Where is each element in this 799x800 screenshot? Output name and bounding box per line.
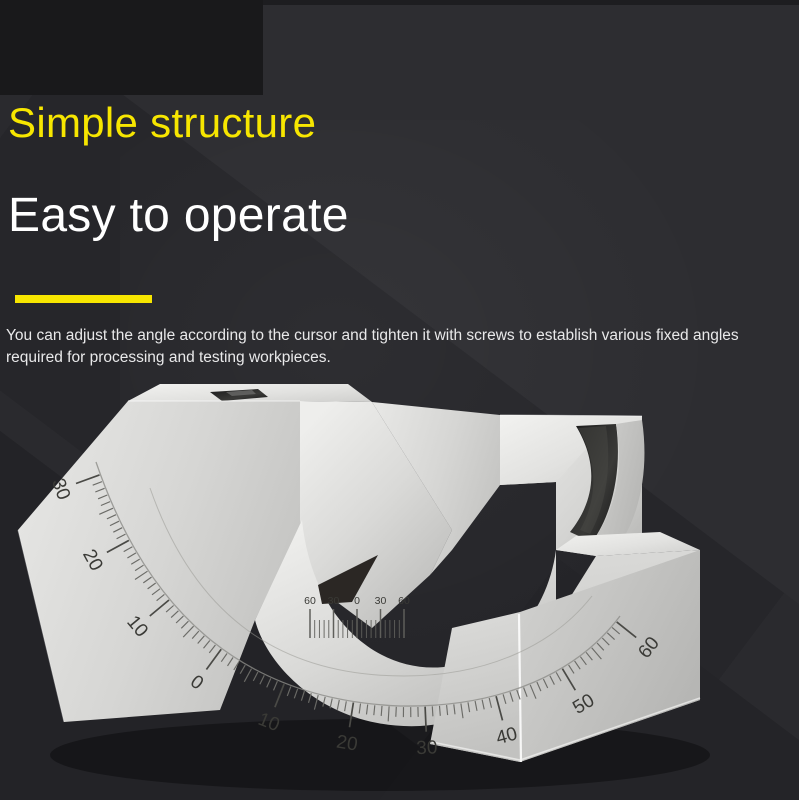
accent-divider-bar — [15, 295, 152, 303]
base-right-face — [520, 550, 700, 762]
scale-label: 30 — [416, 737, 438, 759]
vernier-label: 60 — [398, 595, 410, 607]
vernier-label: 30 — [328, 595, 340, 607]
top-left-dark-block — [0, 0, 263, 95]
headline-secondary: Easy to operate — [8, 188, 349, 243]
product-photo: 3020100102030405060 603003060 — [0, 370, 799, 800]
vernier-label: 30 — [375, 595, 387, 607]
product-illustration: 3020100102030405060 603003060 — [0, 370, 799, 800]
headline-primary: Simple structure — [8, 99, 316, 147]
scale-tick-minor — [396, 707, 397, 717]
scale-tick-minor — [440, 706, 441, 716]
vernier-label: 0 — [354, 595, 360, 607]
vernier-label: 60 — [304, 595, 316, 607]
scale-tick-minor — [381, 706, 382, 716]
body-paragraph: You can adjust the angle according to th… — [6, 325, 776, 369]
promo-banner: Simple structure Easy to operate You can… — [0, 0, 799, 800]
scale-tick-minor — [432, 706, 433, 716]
scale-label: 20 — [335, 732, 359, 756]
scale-tick-major — [425, 707, 426, 732]
